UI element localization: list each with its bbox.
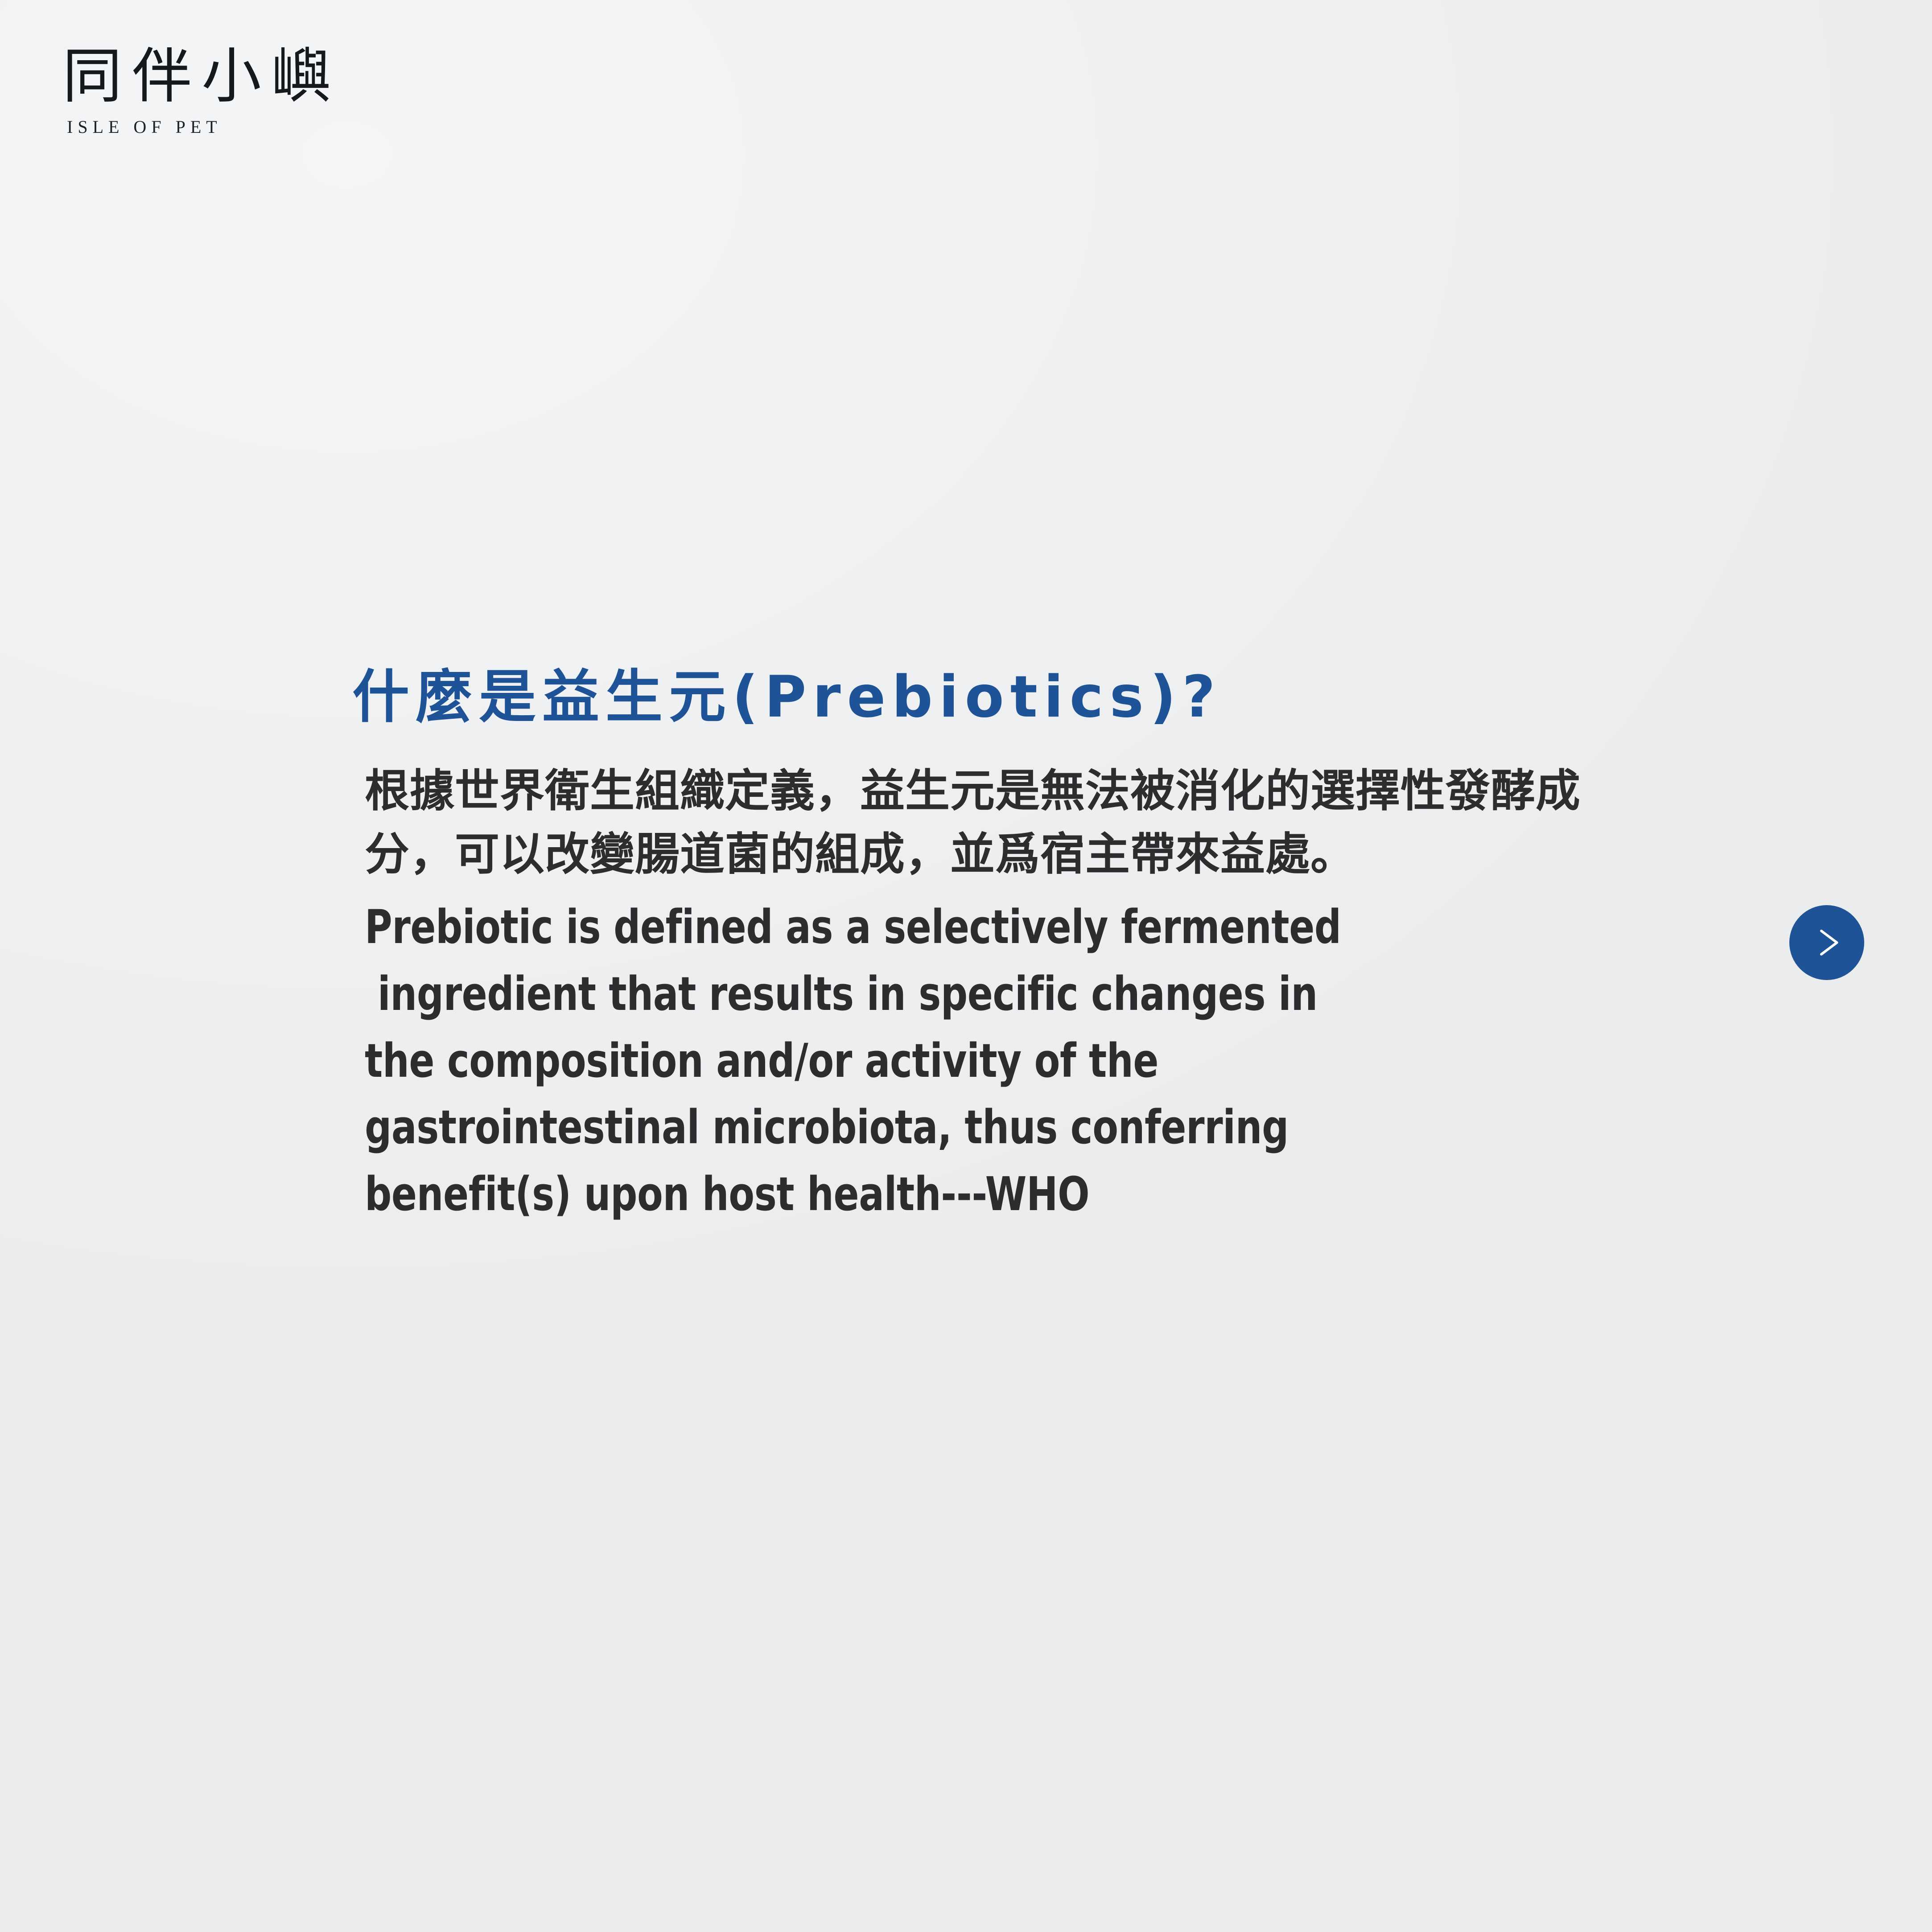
slide-canvas: 同伴小嶼 ISLE OF PET 什麼是益生元(Prebiotics)? 根據世… [0,0,1932,1932]
paragraph-english-line: gastrointestinal microbiota, thus confer… [365,1094,1480,1161]
paragraph-chinese: 根據世界衛生組織定義，益生元是無法被消化的選擇性發酵成分，可以改變腸道菌的組成，… [365,759,1595,886]
brand-name-english: ISLE OF PET [67,116,339,137]
paragraph-english: Prebiotic is defined as a selectively fe… [365,894,1604,1228]
chevron-right-icon [1808,924,1845,961]
content-block: 什麼是益生元(Prebiotics)? 根據世界衛生組織定義，益生元是無法被消化… [352,664,1672,1228]
page-title: 什麼是益生元(Prebiotics)? [352,664,1672,730]
brand-name-chinese: 同伴小嶼 [62,47,339,107]
paragraph-english-line: Prebiotic is defined as a selectively fe… [365,894,1480,961]
paragraph-english-line: the composition and/or activity of the [365,1028,1480,1095]
brand-logo: 同伴小嶼 ISLE OF PET [62,47,339,137]
paragraph-english-line: benefit(s) upon host health---WHO [365,1161,1480,1228]
paragraph-english-line: ingredient that results in specific chan… [365,961,1480,1028]
next-slide-button[interactable] [1789,905,1864,980]
